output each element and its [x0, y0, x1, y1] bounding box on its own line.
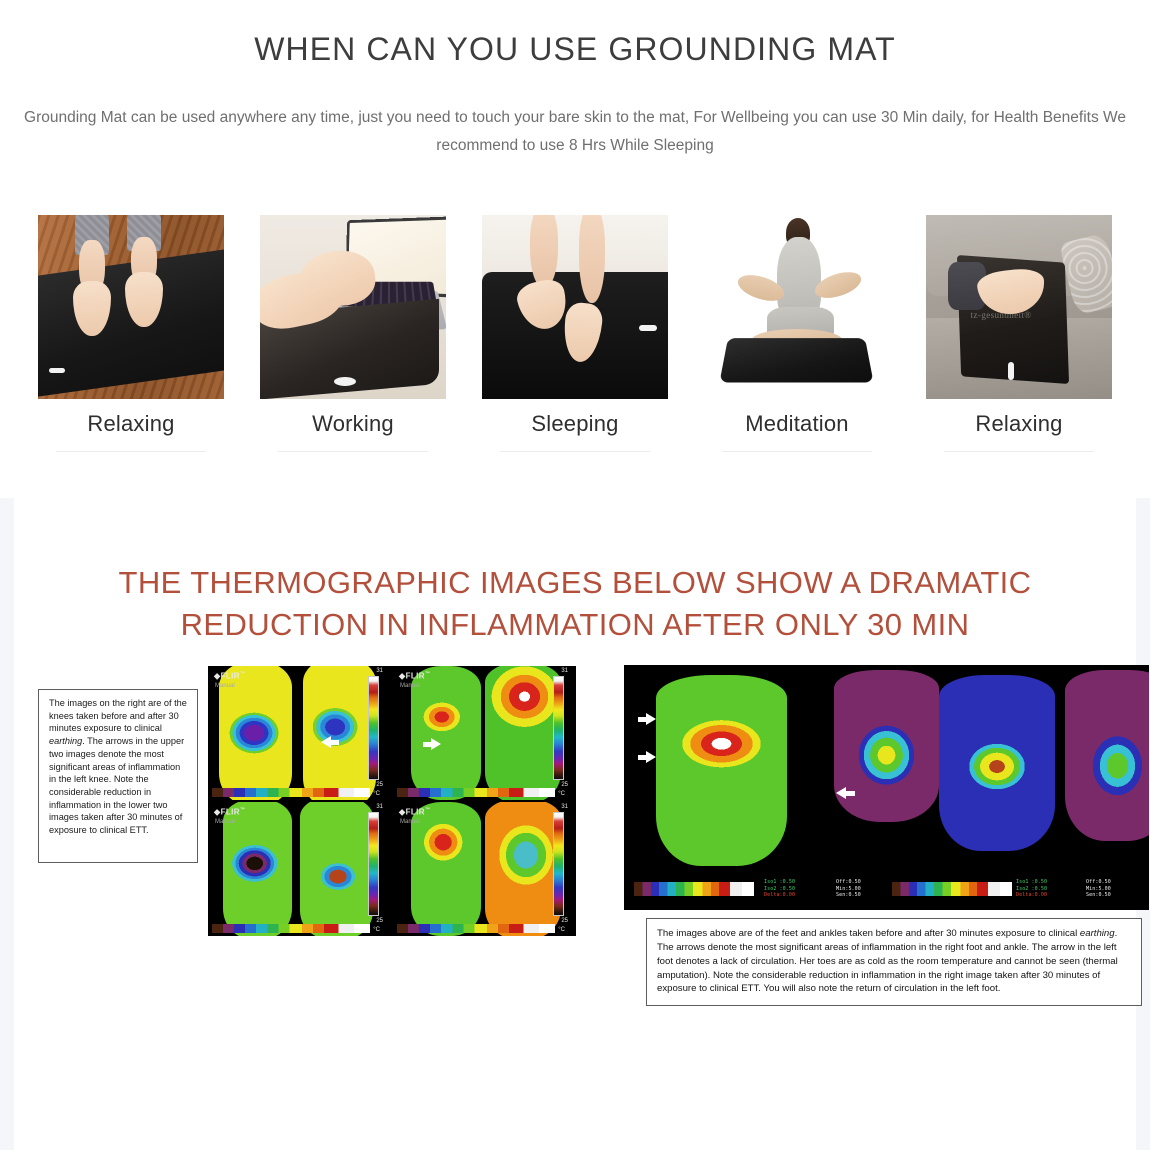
- palette-strip: [634, 882, 754, 896]
- inflammation-arrow-tail: [423, 742, 432, 747]
- scale-low-label: 25: [561, 918, 568, 924]
- thermal-leg-blob: [411, 802, 481, 936]
- gallery-caption: Relaxing: [926, 411, 1112, 451]
- scale-low-label: 25: [376, 918, 383, 924]
- page-title: WHEN CAN YOU USE GROUNDING MAT: [0, 24, 1150, 68]
- thermal-leg-blob: [485, 802, 562, 936]
- inflammation-arrow-icon: [646, 713, 656, 725]
- intro-section: WHEN CAN YOU USE GROUNDING MAT Grounding…: [0, 0, 1150, 498]
- palette-strip: [397, 924, 555, 933]
- flir-logo: ◆FLIR™: [399, 807, 430, 817]
- palette-strip: [212, 788, 370, 797]
- knee-thermal-before-left[interactable]: ◆FLIR™ Manual 31 25 °C: [208, 666, 391, 800]
- heading-line-2: REDUCTION IN INFLAMMATION AFTER ONLY 30 …: [181, 607, 970, 642]
- thermal-leg-blob: [485, 666, 562, 800]
- scale-unit-label: °C: [558, 927, 565, 933]
- thermal-leg-blob: [411, 666, 481, 800]
- leg-right-graphic: [579, 215, 605, 303]
- thermal-foot-after-right: [939, 675, 1055, 851]
- thermal-readout-right: Iso1 :0.50 Iso2 :0.50 Delta:0.00: [1016, 879, 1047, 898]
- gallery-item-relaxing-sofa[interactable]: tz-gesundheit® Relaxing: [926, 215, 1112, 452]
- gallery-image-meditation[interactable]: [704, 215, 890, 399]
- scale-high-label: 31: [561, 804, 568, 810]
- readout-delta: Delta:0.00: [764, 892, 795, 898]
- camera-mode-label: Manual: [400, 683, 420, 689]
- grounding-cushion-graphic: [720, 338, 874, 382]
- scale-unit-label: °C: [373, 927, 380, 933]
- flir-logo: ◆FLIR™: [399, 671, 430, 681]
- palette-strip: [892, 882, 1012, 896]
- usage-gallery: Relaxing Working: [0, 215, 1150, 452]
- scale-unit-label: °C: [373, 791, 380, 797]
- gallery-image-relaxing-sofa[interactable]: tz-gesundheit®: [926, 215, 1112, 399]
- circulation-arrow-icon: [836, 787, 846, 799]
- gallery-item-working[interactable]: Working: [260, 215, 446, 452]
- inflammation-arrow-tail: [638, 717, 647, 722]
- gallery-item-relaxing-floor[interactable]: Relaxing: [38, 215, 224, 452]
- thermal-params-left: Off:0.50 Min:5.00 Sen:0.50: [836, 879, 861, 898]
- caption-divider: [56, 451, 206, 452]
- thermal-foot-before-right: [656, 675, 787, 866]
- thermographic-section: THE THERMOGRAPHIC IMAGES BELOW SHOW A DR…: [0, 498, 1150, 1150]
- scale-high-label: 31: [376, 668, 383, 674]
- caption-divider: [500, 451, 650, 452]
- readout-sen: Sen:0.50: [836, 892, 861, 898]
- flir-logo: ◆FLIR™: [214, 671, 245, 681]
- gallery-item-meditation[interactable]: Meditation: [704, 215, 890, 452]
- flir-logo: ◆FLIR™: [214, 807, 245, 817]
- thermographic-body: The images on the right are of the knees…: [14, 665, 1136, 1085]
- heading-line-1: THE THERMOGRAPHIC IMAGES BELOW SHOW A DR…: [119, 565, 1032, 600]
- knee-thermal-before-right[interactable]: ◆FLIR™ Manual 31 25 °C: [393, 666, 576, 800]
- temperature-color-scale: [368, 812, 379, 916]
- readout-iso2: Iso2 :0.50: [1016, 886, 1047, 892]
- mat-cord-graphic: [1008, 362, 1014, 380]
- temperature-color-scale: [368, 676, 379, 780]
- knee-caption-part2: . The arrows in the upper two images den…: [49, 736, 184, 835]
- knee-caption-box: The images on the right are of the knees…: [38, 689, 198, 863]
- mat-cord-graphic: [49, 368, 65, 373]
- scale-low-label: 25: [376, 782, 383, 788]
- readout-sen: Sen:0.50: [1086, 892, 1111, 898]
- thermal-leg-blob: [300, 802, 373, 936]
- readout-off: Off:0.50: [836, 879, 861, 885]
- camera-mode-label: Manual: [215, 683, 235, 689]
- page-subtitle: Grounding Mat can be used anywhere any t…: [15, 104, 1135, 158]
- image-watermark: tz-gesundheit®: [971, 310, 1032, 320]
- readout-min: Min:5.00: [836, 886, 861, 892]
- readout-iso2: Iso2 :0.50: [764, 886, 795, 892]
- palette-strip: [397, 788, 555, 797]
- readout-off: Off:0.50: [1086, 879, 1111, 885]
- caption-divider: [278, 451, 428, 452]
- temperature-color-scale: [553, 676, 564, 780]
- scale-high-label: 31: [561, 668, 568, 674]
- feet-thermal-panel[interactable]: Iso1 :0.50 Iso2 :0.50 Delta:0.00 Off:0.5…: [624, 665, 1149, 910]
- knee-caption-emphasis: earthing: [49, 736, 82, 746]
- knee-thermal-grid[interactable]: ◆FLIR™ Manual 31 25 °C ◆FLIR™ Manual: [207, 665, 577, 937]
- gallery-caption: Relaxing: [38, 411, 224, 451]
- camera-mode-label: Manual: [400, 819, 420, 825]
- inflammation-arrow-tail: [330, 740, 339, 745]
- readout-min: Min:5.00: [1086, 886, 1111, 892]
- gallery-item-sleeping[interactable]: Sleeping: [482, 215, 668, 452]
- readout-delta: Delta:0.00: [1016, 892, 1047, 898]
- inflammation-arrow-icon: [646, 751, 656, 763]
- feet-caption-box: The images above are of the feet and ank…: [646, 918, 1142, 1006]
- knee-thermal-after-left[interactable]: ◆FLIR™ Manual 31 25 °C: [208, 802, 391, 936]
- knee-caption-part1: The images on the right are of the knees…: [49, 698, 187, 733]
- readout-iso1: Iso1 :0.50: [764, 879, 795, 885]
- mat-cord-graphic: [639, 325, 657, 331]
- thermal-leg-blob: [303, 666, 376, 800]
- scale-low-label: 25: [561, 782, 568, 788]
- knee-thermal-after-right[interactable]: ◆FLIR™ Manual 31 25 °C: [393, 802, 576, 936]
- gallery-caption: Working: [260, 411, 446, 451]
- readout-iso1: Iso1 :0.50: [1016, 879, 1047, 885]
- caption-divider: [944, 451, 1094, 452]
- gallery-caption: Meditation: [704, 411, 890, 451]
- gallery-image-relaxing-floor[interactable]: [38, 215, 224, 399]
- thermal-params-right: Off:0.50 Min:5.00 Sen:0.50: [1086, 879, 1111, 898]
- temperature-color-scale: [553, 812, 564, 916]
- scale-high-label: 31: [376, 804, 383, 810]
- thermographic-card: THE THERMOGRAPHIC IMAGES BELOW SHOW A DR…: [14, 498, 1136, 1150]
- gallery-image-sleeping[interactable]: [482, 215, 668, 399]
- scale-unit-label: °C: [558, 791, 565, 797]
- thermal-readout-left: Iso1 :0.50 Iso2 :0.50 Delta:0.00: [764, 879, 795, 898]
- circulation-arrow-tail: [846, 791, 855, 796]
- mat-cord-graphic: [334, 377, 356, 386]
- gallery-image-working[interactable]: [260, 215, 446, 399]
- camera-mode-label: Manual: [215, 819, 235, 825]
- feet-caption-part1: The images above are of the feet and ank…: [657, 928, 1080, 939]
- inflammation-arrow-icon: [431, 738, 441, 750]
- palette-strip: [212, 924, 370, 933]
- caption-divider: [722, 451, 872, 452]
- thermal-foot-before-left: [834, 670, 939, 822]
- inflammation-arrow-tail: [638, 755, 647, 760]
- feet-caption-emphasis: earthing: [1080, 928, 1115, 939]
- thermal-foot-after-left: [1065, 670, 1149, 842]
- gallery-caption: Sleeping: [482, 411, 668, 451]
- thermographic-heading: THE THERMOGRAPHIC IMAGES BELOW SHOW A DR…: [14, 498, 1136, 645]
